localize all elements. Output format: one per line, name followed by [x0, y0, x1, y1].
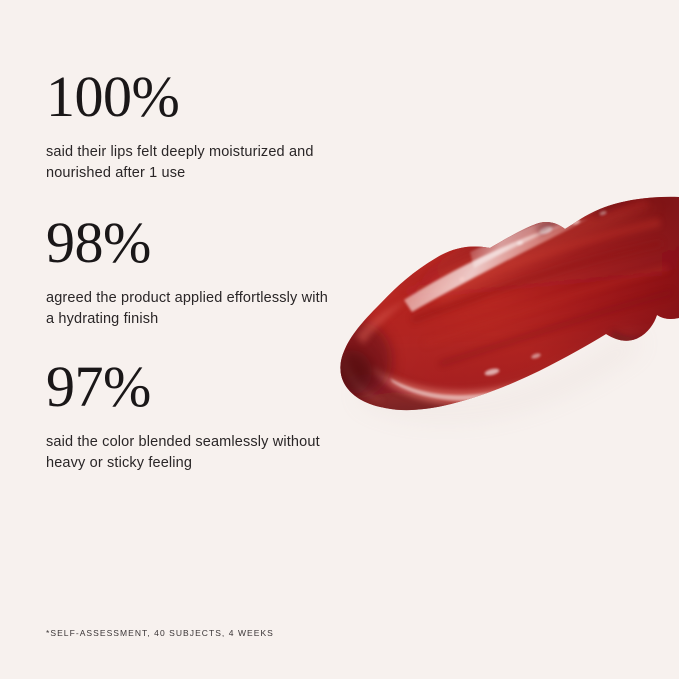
- stat-description: agreed the product applied effortlessly …: [46, 288, 336, 330]
- stat-description: said the color blended seamlessly withou…: [46, 432, 336, 474]
- product-claims-graphic: 100% said their lips felt deeply moistur…: [0, 0, 679, 679]
- stat-description: said their lips felt deeply moisturized …: [46, 142, 336, 184]
- footnote: *SELF-ASSESSMENT, 40 SUBJECTS, 4 WEEKS: [46, 628, 274, 638]
- stats-list: 100% said their lips felt deeply moistur…: [46, 68, 346, 474]
- stat-block: 100% said their lips felt deeply moistur…: [46, 68, 346, 184]
- stat-value: 98%: [46, 214, 346, 272]
- swatch-body: [324, 180, 679, 430]
- stat-value: 100%: [46, 68, 346, 126]
- swatch-shadow: [362, 340, 636, 411]
- stat-value: 97%: [46, 358, 346, 416]
- stat-block: 97% said the color blended seamlessly wi…: [46, 358, 346, 474]
- stat-block: 98% agreed the product applied effortles…: [46, 214, 346, 330]
